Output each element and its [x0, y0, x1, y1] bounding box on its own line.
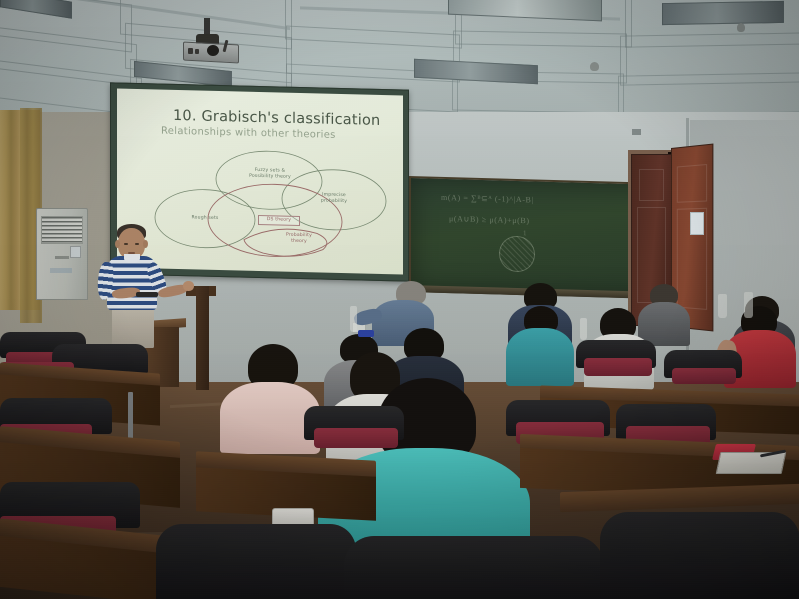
presenter-eye-left — [124, 243, 128, 245]
chalkboard-line-2: μ(A∪B) ≥ μ(A)+μ(B) — [449, 214, 530, 225]
lecture-hall-photo: 10. Grabisch's classification Relationsh… — [0, 0, 799, 599]
notebook[interactable] — [716, 452, 787, 474]
air-conditioner-display[interactable] — [70, 246, 81, 258]
venn-label-imprecise-line2: probability — [321, 199, 347, 205]
wall-marking — [632, 129, 641, 135]
water-bottle[interactable] — [718, 294, 727, 318]
seat-back[interactable] — [156, 524, 356, 599]
slide-subtitle: Relationships with other theories — [161, 126, 336, 141]
water-bottle[interactable] — [580, 318, 587, 340]
venn-label-fuzzy: Fuzzy sets & Possibility theory — [229, 167, 311, 181]
venn-label-imprecise-line1: Imprecise — [322, 193, 346, 199]
projector-knob — [195, 49, 199, 54]
chalkboard-line-1: m(A) = ∑ᴮ⊆ᴬ (-1)^|A-B| — [441, 193, 534, 205]
audience-torso — [506, 328, 574, 386]
projection-screen: 10. Grabisch's classification Relationsh… — [110, 82, 409, 281]
projection-screen-surface: 10. Grabisch's classification Relationsh… — [117, 89, 403, 275]
venn-label-ds-line1: DS theory — [267, 217, 291, 223]
lectern-post — [196, 286, 209, 390]
venn-diagram: Fuzzy sets & Possibility theory Imprecis… — [117, 141, 403, 275]
sprinkler-head — [737, 23, 745, 32]
chalkboard-sketch-circle — [499, 235, 535, 272]
seat-cushion[interactable] — [584, 358, 652, 376]
ceiling-light-fixture — [662, 1, 784, 25]
venn-diagram-svg — [117, 141, 403, 275]
laser-pointer[interactable] — [136, 292, 158, 297]
door-sign — [690, 212, 704, 235]
venn-label-fuzzy-line2: Possibility theory — [249, 174, 291, 180]
sprinkler-head — [590, 62, 599, 71]
presenter-right-hand — [183, 281, 194, 291]
seat-cushion[interactable] — [314, 428, 398, 448]
venn-label-prob-line2: theory — [291, 239, 307, 244]
projector-knob — [188, 48, 193, 54]
air-conditioner-label — [50, 268, 72, 273]
air-conditioner-vent — [41, 216, 83, 244]
chalkboard-sketch-mark: 1 — [523, 229, 527, 237]
blue-object[interactable] — [358, 330, 374, 337]
presenter-eye-right — [135, 243, 139, 245]
presenter-pants — [112, 306, 154, 348]
presenter-collar — [124, 254, 140, 263]
seat-back[interactable] — [600, 512, 799, 599]
venn-label-ds-theory: DS theory — [258, 215, 300, 226]
venn-label-probability: Probability theory — [269, 232, 329, 246]
water-bottle[interactable] — [350, 306, 357, 332]
air-conditioner-logo — [55, 256, 69, 259]
seat-cushion[interactable] — [672, 368, 736, 384]
venn-label-prob-line1: Probability — [286, 233, 312, 239]
venn-label-imprecise: Imprecise probability — [301, 192, 367, 206]
seat-back[interactable] — [344, 536, 604, 599]
water-bottle[interactable] — [744, 292, 753, 318]
projector-lens — [207, 45, 219, 56]
venn-label-fuzzy-line1: Fuzzy sets & — [255, 168, 286, 174]
venn-label-rough-line1: Rough sets — [192, 215, 219, 221]
